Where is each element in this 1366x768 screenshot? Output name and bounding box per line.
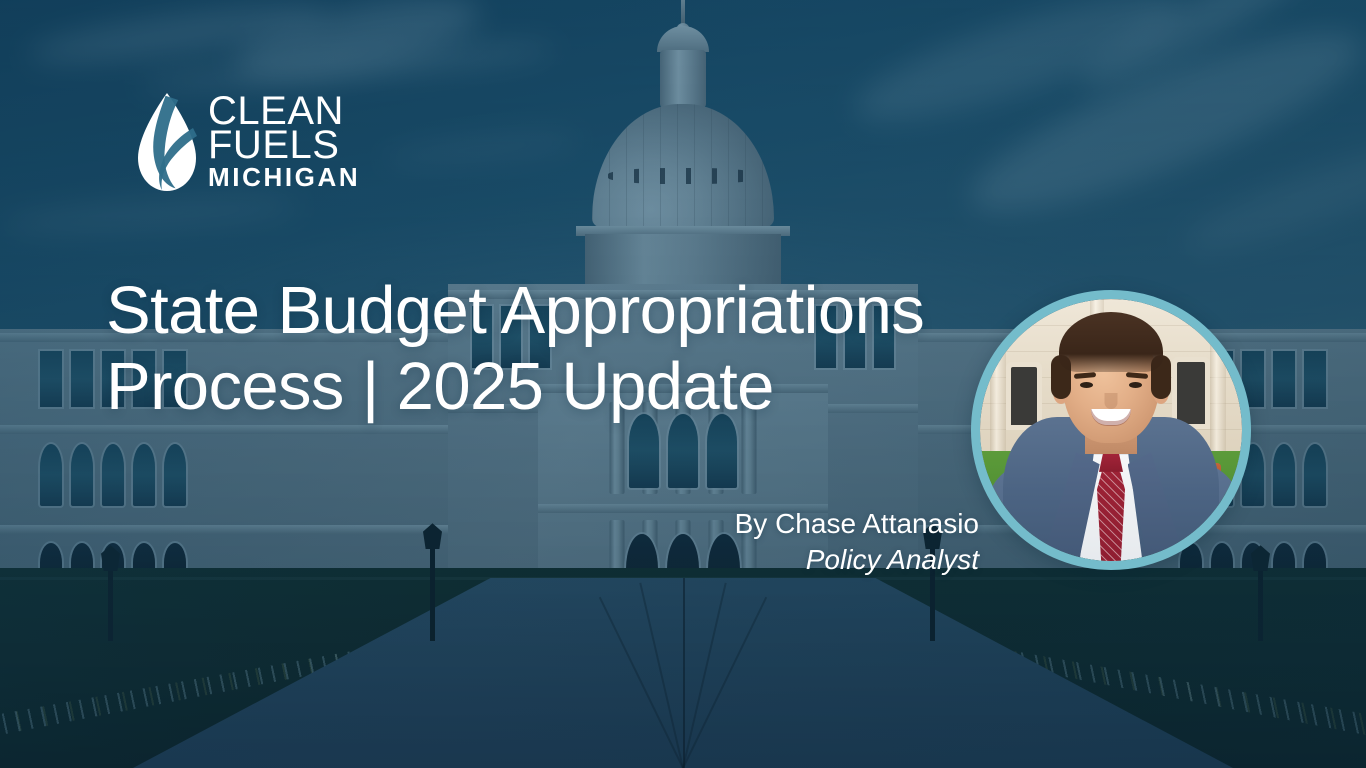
portrait-necktie: [1097, 465, 1125, 561]
logo-wordmark: CLEAN FUELS MICHIGAN: [208, 95, 360, 188]
slide-title-line-1: State Budget Appropriations: [106, 273, 924, 348]
avatar-photo: [980, 299, 1242, 561]
byline-author: By Chase Attanasio: [549, 506, 979, 542]
logo-line-michigan: MICHIGAN: [208, 167, 360, 189]
logo-line-fuels: FUELS: [208, 129, 360, 163]
portrait-bg-window: [1177, 362, 1205, 424]
water-droplet-leaf-icon: [136, 92, 198, 192]
slide-title-line-2: Process | 2025 Update: [106, 349, 774, 424]
portrait-bg-pilaster: [990, 299, 1006, 464]
slide-title: State Budget Appropriations Process | 20…: [106, 273, 1006, 424]
byline-role: Policy Analyst: [549, 542, 979, 578]
clean-fuels-michigan-logo[interactable]: CLEAN FUELS MICHIGAN: [136, 92, 360, 192]
byline: By Chase Attanasio Policy Analyst: [549, 506, 979, 578]
avatar: [971, 290, 1251, 570]
presentation-slide: CLEAN FUELS MICHIGAN State Budget Approp…: [0, 0, 1366, 768]
portrait-bg-window: [1011, 367, 1037, 425]
portrait-eye-left: [1080, 382, 1093, 388]
portrait-bg-pilaster: [1210, 299, 1226, 464]
portrait-nose: [1105, 393, 1118, 409]
